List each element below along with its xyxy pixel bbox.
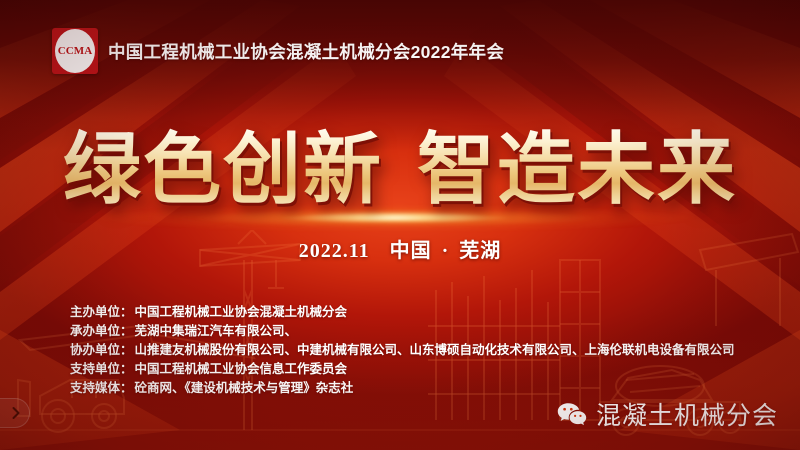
header-title: 中国工程机械工业协会混凝土机械分会2022年年会 [108,39,504,64]
credits-block: 主办单位： 中国工程机械工业协会混凝土机械分会 承办单位： 芜湖中集瑞江汽车有限… [70,303,735,398]
conference-poster: CCMA 中国工程机械工业协会混凝土机械分会2022年年会 绿色创新智造未来 2… [0,0,800,450]
credit-label: 承办单位： [70,322,133,341]
event-city: 芜湖 [459,240,501,262]
wechat-account: 混凝土机械分会 [557,396,778,432]
credit-value: 中国工程机械工业协会混凝土机械分会 [135,303,348,322]
credit-value: 芜湖中集瑞江汽车有限公司、 [135,322,298,341]
wechat-icon [557,402,587,426]
credit-row-co-organizer: 协办单位： 山推建友机械股份有限公司、中建机械有限公司、山东博硕自动化技术有限公… [70,341,735,360]
ccma-logo: CCMA [52,28,98,74]
credit-value: 砼商网、《建设机械技术与管理》杂志社 [135,379,354,398]
date-location-line: 2022.11中国·芜湖 [0,234,800,263]
credit-row-supporter: 支持单位： 中国工程机械工业协会信息工作委员会 [70,360,735,379]
date-separator: · [442,240,450,262]
main-title-part2: 智造未来 [417,125,737,215]
credit-label: 支持媒体： [70,379,133,398]
main-title-part1: 绿色创新 [63,125,383,215]
main-title: 绿色创新智造未来 [0,128,800,212]
event-country: 中国 [390,240,432,262]
credit-label: 支持单位： [70,360,133,379]
ccma-logo-text: CCMA [58,45,93,57]
credit-value: 山推建友机械股份有限公司、中建机械有限公司、山东博硕自动化技术有限公司、上海伦联… [135,341,735,360]
credit-label: 主办单位： [70,303,133,322]
wechat-account-name: 混凝土机械分会 [596,396,778,432]
credit-label: 协办单位： [70,341,133,360]
chevron-right-icon [11,406,21,420]
ccma-logo-circle: CCMA [55,29,95,73]
event-date: 2022.11 [299,240,370,262]
poster-header: CCMA 中国工程机械工业协会混凝土机械分会2022年年会 [52,28,504,74]
credit-row-organizer: 主办单位： 中国工程机械工业协会混凝土机械分会 [70,303,735,322]
next-slide-button[interactable] [0,398,30,428]
credit-row-host: 承办单位： 芜湖中集瑞江汽车有限公司、 [70,322,735,341]
credit-value: 中国工程机械工业协会信息工作委员会 [135,360,348,379]
